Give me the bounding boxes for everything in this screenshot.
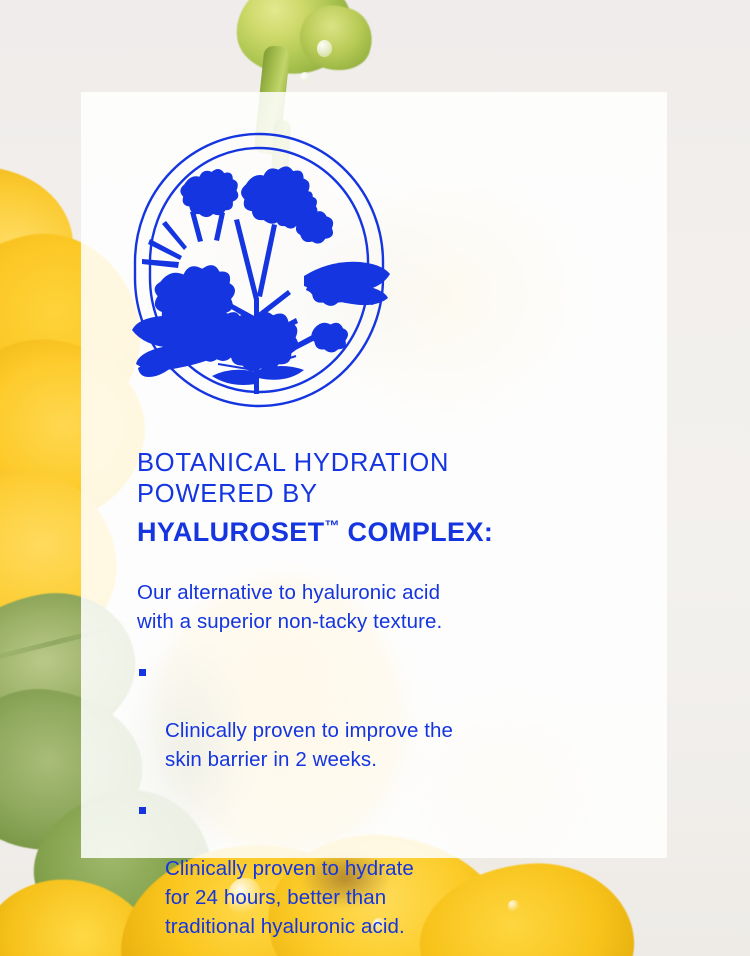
water-droplet-icon: [300, 72, 310, 83]
page-title: HYALUROSET™ COMPLEX:: [137, 510, 649, 549]
product-claim-graphic: BOTANICAL HYDRATION POWERED BY HYALUROSE…: [0, 0, 750, 956]
content-card: BOTANICAL HYDRATION POWERED BY HYALUROSE…: [81, 92, 667, 858]
copy-block: BOTANICAL HYDRATION POWERED BY HYALUROSE…: [137, 448, 649, 941]
botanical-emblem-logo: [128, 128, 390, 414]
trademark-symbol: ™: [325, 518, 340, 535]
water-droplet-icon: [317, 40, 332, 57]
eyebrow-text: BOTANICAL HYDRATION POWERED BY: [137, 448, 649, 510]
claims-list: Clinically proven to improve the skin ba…: [137, 658, 649, 941]
headline-suffix: COMPLEX:: [340, 517, 494, 547]
square-bullet-icon: [139, 807, 146, 814]
headline-main: HYALUROSET: [137, 517, 325, 547]
list-item: Clinically proven to hydrate for 24 hour…: [165, 796, 649, 941]
list-item-label: Clinically proven to improve the skin ba…: [165, 719, 453, 771]
lede-text: Our alternative to hyaluronic acid with …: [137, 578, 649, 636]
square-bullet-icon: [139, 669, 146, 676]
list-item-label: Clinically proven to hydrate for 24 hour…: [165, 857, 414, 938]
list-item: Clinically proven to improve the skin ba…: [165, 658, 649, 774]
